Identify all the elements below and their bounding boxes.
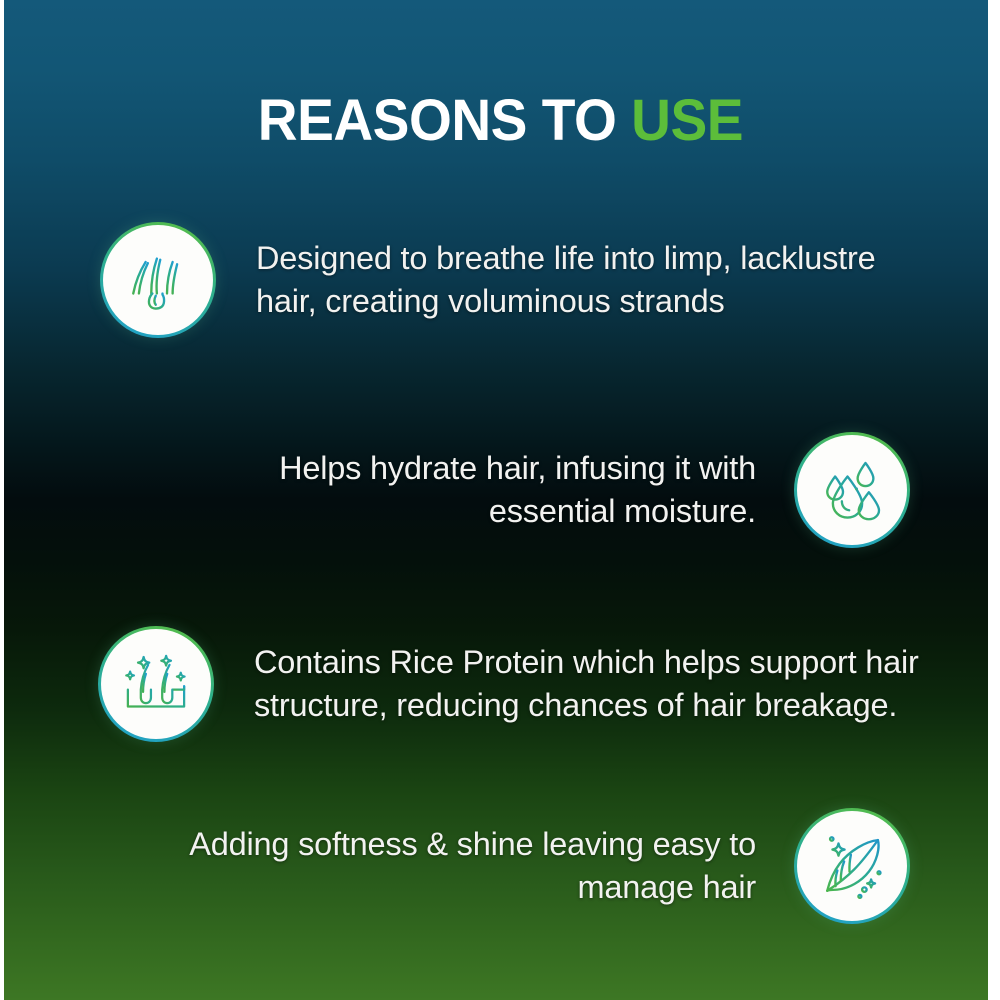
hair-follicle-scalp-sparkle-icon <box>98 626 214 742</box>
benefit-text-2: Helps hydrate hair, infusing it with ess… <box>156 447 756 533</box>
benefit-row-2: Helps hydrate hair, infusing it with ess… <box>120 432 910 548</box>
benefit-row-1: Designed to breathe life into limp, lack… <box>100 222 940 338</box>
benefit-row-3: Contains Rice Protein which helps suppor… <box>98 626 938 742</box>
benefit-text-1: Designed to breathe life into limp, lack… <box>256 237 940 323</box>
water-droplets-icon <box>794 432 910 548</box>
benefit-text-3: Contains Rice Protein which helps suppor… <box>254 641 938 727</box>
page-title-accent: USE <box>631 88 743 153</box>
page-title-wrapper: REASONS TO USE <box>0 92 1000 150</box>
feather-shine-icon <box>794 808 910 924</box>
page-title-prefix: REASONS TO <box>257 88 630 153</box>
benefit-text-4: Adding softness & shine leaving easy to … <box>156 823 756 909</box>
page-title: REASONS TO USE <box>257 92 742 150</box>
hair-follicle-strands-icon <box>100 222 216 338</box>
reasons-to-use-poster: REASONS TO USE Designed to breathe life … <box>0 0 1000 1000</box>
benefit-row-4: Adding softness & shine leaving easy to … <box>120 808 910 924</box>
